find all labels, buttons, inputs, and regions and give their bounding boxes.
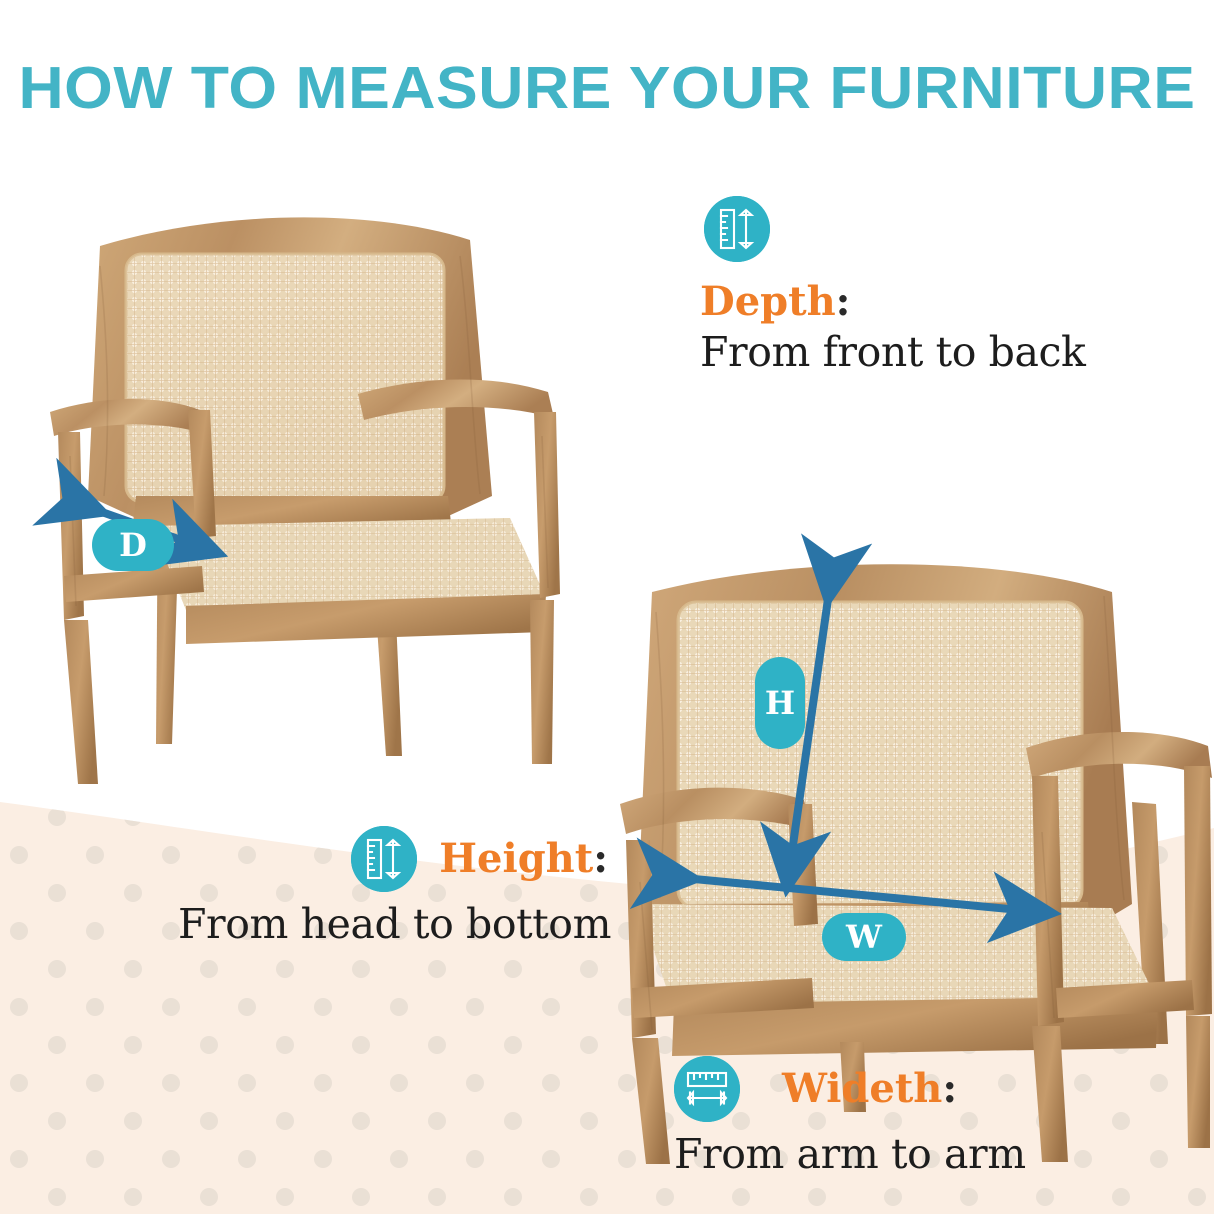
depth-label: Depth: (700, 282, 1086, 322)
width-label: Wideth: (782, 1069, 957, 1109)
depth-label-colon: : (836, 278, 851, 325)
rattan-armchair-front-view (40, 196, 580, 788)
depth-description: From front to back (700, 330, 1086, 375)
vertical-ruler-icon (704, 196, 770, 262)
vertical-ruler-icon (351, 826, 417, 892)
depth-badge: D (92, 519, 174, 571)
infographic-canvas: HOW TO MEASURE YOUR FURNITURE (0, 0, 1214, 1214)
page-title: HOW TO MEASURE YOUR FURNITURE (0, 54, 1214, 122)
horizontal-ruler-icon (674, 1056, 740, 1122)
width-description: From arm to arm (674, 1132, 1094, 1177)
width-info-block: Wideth: From arm to arm (674, 1056, 1094, 1177)
depth-info-block: Depth: From front to back (700, 196, 1086, 375)
depth-label-text: Depth (700, 278, 836, 325)
width-badge: W (822, 913, 906, 961)
height-info-block: Height: From head to bottom (178, 826, 608, 947)
height-description: From head to bottom (178, 902, 608, 947)
height-label-colon: : (593, 835, 608, 882)
height-label: Height: (439, 839, 608, 879)
width-label-text: Wideth (782, 1065, 942, 1112)
height-badge: H (755, 657, 805, 749)
height-label-text: Height (439, 835, 593, 882)
width-label-colon: : (942, 1065, 957, 1112)
